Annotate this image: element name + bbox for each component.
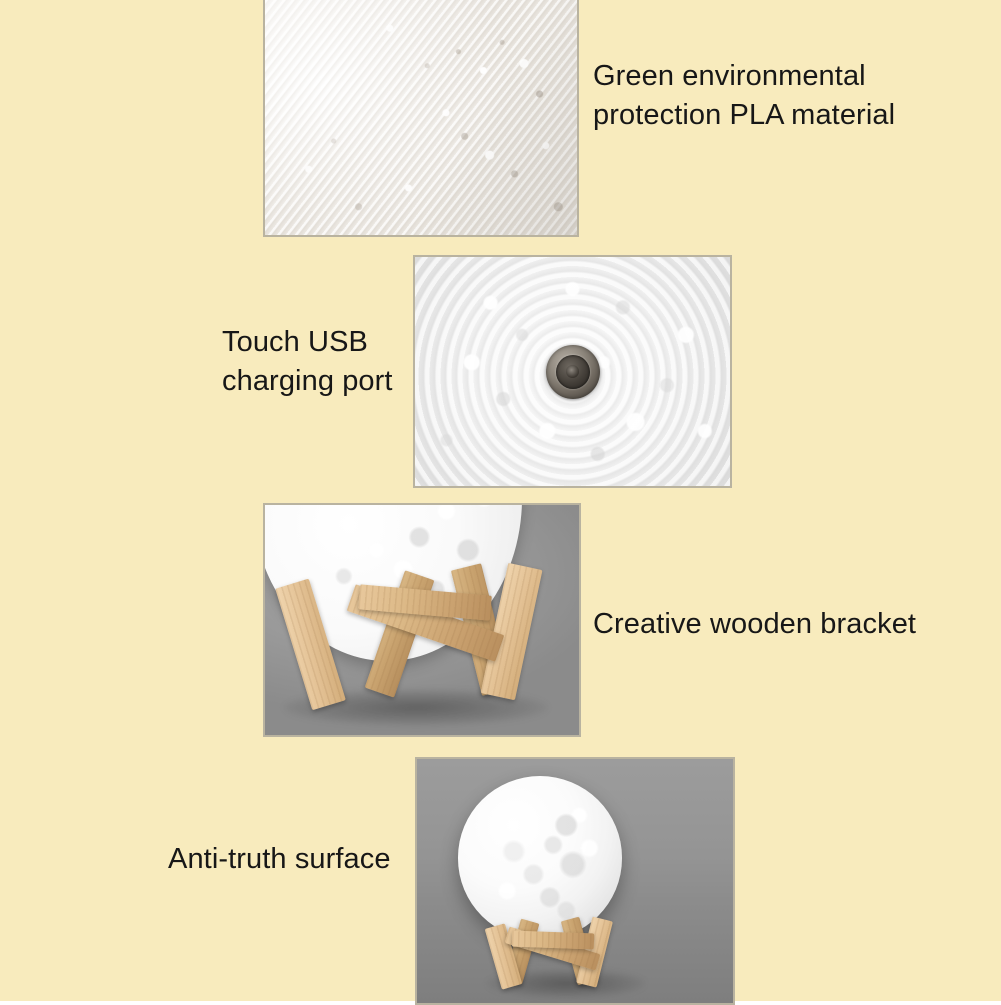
feature-caption-material: Green environmental protection PLA mater… bbox=[593, 57, 933, 134]
usb-port-inner-ring bbox=[556, 355, 590, 389]
usb-port-center-pin bbox=[566, 365, 579, 378]
feature-photo-surface[interactable] bbox=[415, 757, 735, 1005]
feature-caption-surface: Anti-truth surface bbox=[168, 840, 468, 879]
moon-lamp-sphere bbox=[458, 776, 622, 939]
feature-photo-bracket[interactable] bbox=[263, 503, 581, 737]
product-feature-infographic: Green environmental protection PLA mater… bbox=[0, 0, 1001, 1001]
stand-cross-rail-secondary bbox=[512, 931, 595, 950]
wood-grain-texture bbox=[512, 931, 595, 950]
feature-photo-port[interactable] bbox=[413, 255, 732, 488]
feature-caption-bracket: Creative wooden bracket bbox=[593, 605, 953, 644]
usb-charging-port-icon bbox=[546, 345, 600, 399]
feature-photo-material[interactable] bbox=[263, 0, 579, 237]
feature-caption-port: Touch USB charging port bbox=[222, 323, 442, 400]
pla-surface-shading bbox=[265, 0, 577, 235]
